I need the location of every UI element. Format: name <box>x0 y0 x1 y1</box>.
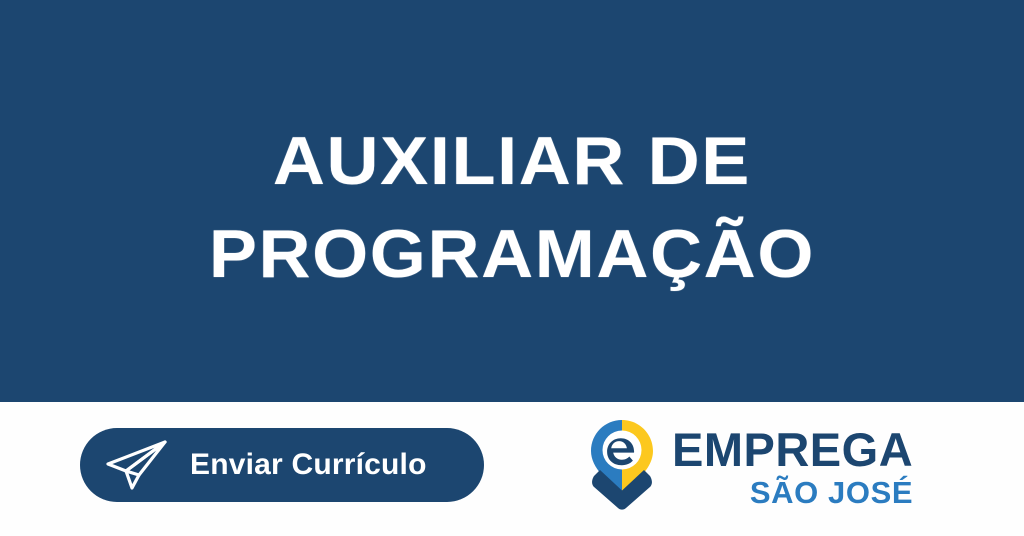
emprega-sao-jose-logo[interactable]: EMPREGA SÃO JOSÉ <box>586 418 913 512</box>
send-resume-button[interactable]: Enviar Currículo <box>80 428 484 502</box>
job-title-line-1: AUXILIAR DE <box>209 125 815 198</box>
logo-city-name: SÃO JOSÉ <box>750 477 913 508</box>
job-title-line-2: PROGRAMAÇÃO <box>209 218 815 291</box>
send-resume-label: Enviar Currículo <box>190 448 427 482</box>
location-pin-icon <box>586 418 658 512</box>
job-poster: AUXILIAR DE PROGRAMAÇÃO Enviar Currículo <box>0 0 1024 536</box>
footer-bar: Enviar Currículo EMPREGA <box>0 402 1024 536</box>
logo-wordmark: EMPREGA SÃO JOSÉ <box>672 422 913 508</box>
title-banner: AUXILIAR DE PROGRAMAÇÃO <box>0 0 1024 402</box>
page-title: AUXILIAR DE PROGRAMAÇÃO <box>209 125 815 292</box>
logo-brand-name: EMPREGA <box>672 426 913 473</box>
paper-plane-icon <box>102 438 172 492</box>
